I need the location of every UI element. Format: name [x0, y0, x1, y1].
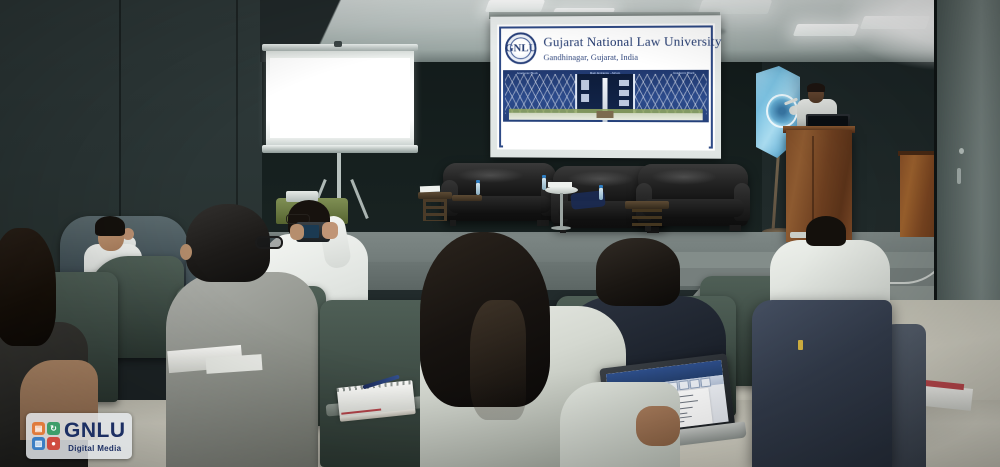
refresh-icon: ↻: [47, 422, 60, 435]
audience-hand-typing: [636, 406, 680, 446]
side-table: [418, 192, 452, 199]
watermark-text: GNLU Digital Media: [64, 419, 126, 453]
watermark-tagline: Digital Media: [68, 444, 121, 453]
banner-window: [619, 90, 629, 96]
audience-member-hair-strand: [470, 300, 526, 420]
sofa-legs: [450, 220, 549, 226]
side-table: [452, 195, 482, 201]
banner-label-center: Main Entrance - Atrium: [590, 71, 620, 75]
ribbon-button[interactable]: [678, 380, 689, 390]
screen-knob-icon: [334, 41, 342, 47]
audience-member-hair: [95, 216, 125, 236]
gnlu-banner: GNLU Gujarat National Law University Gan…: [497, 23, 715, 150]
pillar-fixture-icon: [957, 168, 961, 184]
projection-screen-weight-bar: [262, 145, 418, 153]
banner-location: Gandhinagar, Gujarat, India: [543, 52, 721, 62]
side-table-legs: [632, 209, 662, 227]
screen-tripod-stem: [337, 153, 341, 201]
sofa-highlight: [457, 168, 525, 183]
banner-tower-base: [597, 111, 614, 118]
audience-hand: [322, 222, 338, 239]
eyeglasses-icon: [255, 236, 283, 249]
banner-window: [619, 80, 629, 86]
page-icon: ▥: [32, 437, 45, 450]
watermark: ▤ ↻ ▥ ● GNLU Digital Media: [26, 413, 132, 459]
pillar-fixture-icon: [959, 148, 964, 154]
water-bottle: [476, 183, 480, 195]
round-table-foot: [551, 226, 571, 230]
stage-sofa: [443, 163, 556, 221]
bottle-cap: [599, 185, 603, 188]
stage-papers: [548, 182, 572, 187]
banner-title-group: Gujarat National Law University Gandhina…: [543, 33, 721, 62]
audience-member-ear: [180, 244, 192, 260]
sofa-highlight: [651, 169, 717, 185]
user-icon: ●: [47, 437, 60, 450]
watermark-badge: ▤ ↻ ▥ ●: [32, 422, 60, 450]
auditorium-photo: GNLU Gujarat National Law University Gan…: [0, 0, 1000, 467]
bottle-cap: [476, 180, 480, 183]
audience-member-hair: [806, 216, 846, 246]
banner-window: [581, 94, 589, 102]
round-table-stem: [560, 193, 563, 227]
front-row-seat: [752, 300, 892, 467]
ribbon-button[interactable]: [689, 379, 700, 389]
stage-papers: [420, 186, 440, 193]
water-bottle: [599, 188, 603, 200]
speaker-hair: [807, 83, 825, 92]
banner-header: GNLU Gujarat National Law University Gan…: [505, 29, 709, 66]
banner-window: [581, 80, 589, 90]
audience-member-hair: [596, 238, 680, 306]
gnlu-seal-icon: GNLU: [505, 32, 536, 64]
water-bottle: [542, 178, 546, 190]
banner-campus-artwork: Academic Block Main Entrance - Atrium Ac…: [503, 70, 709, 122]
seal-initials: GNLU: [505, 43, 536, 54]
audience-member-hair: [0, 228, 56, 346]
banner-label-right: Academic Block: [673, 71, 695, 75]
document-icon: ▤: [32, 422, 45, 435]
banner-label-left: Academic Block: [517, 71, 538, 75]
ceiling-light-icon: [485, 0, 545, 12]
side-table: [625, 201, 669, 209]
ribbon-button[interactable]: [700, 377, 711, 387]
audience-hand: [290, 224, 304, 240]
hall-pillar: [937, 0, 1000, 300]
side-table-legs: [423, 199, 447, 221]
banner-university-name: Gujarat National Law University: [543, 33, 721, 50]
banner-window: [619, 100, 629, 106]
projection-screen-surface: [270, 58, 410, 138]
spiral-notebook: [337, 380, 416, 418]
banner-footer: [503, 128, 709, 151]
wall-seam: [119, 0, 121, 235]
bottle-cap: [542, 175, 546, 178]
seat-number-tag: [798, 340, 803, 350]
watermark-brand: GNLU: [64, 419, 126, 443]
